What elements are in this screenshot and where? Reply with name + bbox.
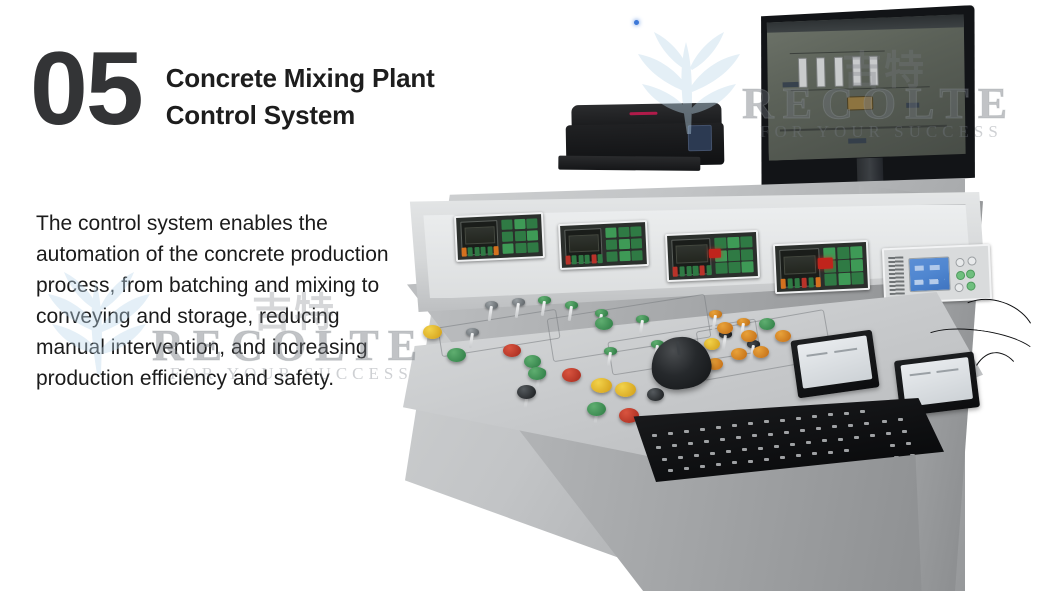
push-button-red[interactable] bbox=[503, 344, 521, 357]
controller-lcd-screen bbox=[908, 256, 951, 292]
printer-status-led bbox=[629, 112, 657, 115]
printer-output-tray bbox=[558, 156, 700, 171]
push-button-black[interactable] bbox=[517, 385, 536, 399]
hmi-silo bbox=[869, 56, 879, 86]
printer-control-panel bbox=[688, 125, 712, 151]
controller-button[interactable] bbox=[954, 283, 963, 292]
selector-switch[interactable] bbox=[512, 298, 525, 306]
hmi-tag bbox=[848, 138, 866, 144]
laser-printer bbox=[563, 103, 724, 186]
hmi-tag bbox=[906, 103, 919, 108]
controller-button[interactable] bbox=[955, 258, 964, 267]
slide-title: Concrete Mixing Plant Control System bbox=[166, 42, 435, 134]
hmi-pipe bbox=[791, 86, 930, 91]
controller-function-keys[interactable] bbox=[672, 265, 712, 276]
push-button-black[interactable] bbox=[647, 388, 664, 401]
selector-switch[interactable] bbox=[604, 347, 617, 355]
weigh-controller-3[interactable] bbox=[665, 230, 760, 282]
controller-button-green[interactable] bbox=[966, 282, 975, 291]
push-button-green[interactable] bbox=[524, 355, 541, 368]
controller-red-readout bbox=[709, 249, 721, 259]
text-column: 05 Concrete Mixing Plant Control System … bbox=[0, 0, 470, 591]
controller-red-readout bbox=[818, 257, 833, 269]
lcd-monitor bbox=[757, 5, 980, 189]
push-button-yellow[interactable] bbox=[704, 338, 720, 350]
document-holder-left bbox=[790, 330, 879, 399]
controller-button-cluster[interactable] bbox=[949, 246, 990, 300]
slide-title-line-1: Concrete Mixing Plant bbox=[166, 60, 435, 97]
slide-number: 05 bbox=[30, 42, 142, 138]
selector-switch[interactable] bbox=[565, 301, 578, 309]
weigh-controller-2[interactable] bbox=[558, 220, 649, 270]
slide-canvas: RECOLTE FOR YOUR SUCCESS 吉特 RECOLTE FOR … bbox=[0, 0, 1059, 591]
controller-function-keys[interactable] bbox=[565, 254, 603, 265]
hmi-silo bbox=[816, 58, 826, 88]
hmi-silo bbox=[798, 58, 808, 88]
push-button-green[interactable] bbox=[595, 317, 613, 330]
controller-button-green[interactable] bbox=[955, 271, 964, 280]
push-button-orange[interactable] bbox=[753, 346, 769, 358]
controller-button-green[interactable] bbox=[966, 269, 975, 278]
controller-function-keys[interactable] bbox=[780, 277, 820, 289]
push-button-orange[interactable] bbox=[717, 322, 733, 334]
selector-switch[interactable] bbox=[737, 318, 750, 326]
document-sheet bbox=[797, 335, 872, 388]
push-button-green[interactable] bbox=[528, 367, 546, 380]
push-button-orange[interactable] bbox=[775, 330, 791, 342]
lcd-value-row bbox=[915, 279, 945, 285]
selector-switch[interactable] bbox=[636, 315, 649, 323]
monitor-screen bbox=[765, 14, 968, 161]
slide-body-text: The control system enables the automatio… bbox=[36, 208, 406, 394]
controller-keypad[interactable] bbox=[603, 222, 646, 266]
controller-button[interactable] bbox=[967, 257, 976, 266]
controller-keypad[interactable] bbox=[499, 214, 542, 258]
hmi-pipe bbox=[790, 50, 886, 54]
push-button-green[interactable] bbox=[759, 318, 775, 330]
slide-title-line-2: Control System bbox=[166, 97, 435, 134]
selector-switch[interactable] bbox=[709, 310, 722, 318]
selector-switch[interactable] bbox=[538, 296, 551, 304]
push-button-yellow[interactable] bbox=[615, 382, 636, 397]
hmi-mixer bbox=[847, 96, 873, 111]
controller-terminal-strip bbox=[888, 256, 904, 295]
hmi-silo bbox=[834, 57, 844, 87]
push-button-orange[interactable] bbox=[731, 348, 747, 360]
push-button-red[interactable] bbox=[562, 368, 581, 382]
selector-switch[interactable] bbox=[595, 309, 608, 317]
headline: 05 Concrete Mixing Plant Control System bbox=[30, 42, 435, 138]
push-button-green[interactable] bbox=[587, 402, 606, 416]
product-photo bbox=[399, 0, 1059, 591]
hmi-tag bbox=[782, 82, 798, 87]
selector-switch[interactable] bbox=[485, 301, 498, 309]
keyboard-indicator-led bbox=[634, 20, 639, 25]
hmi-silo bbox=[851, 57, 861, 87]
push-button-orange[interactable] bbox=[741, 330, 757, 342]
hmi-conveyor bbox=[780, 125, 947, 132]
push-button-yellow[interactable] bbox=[591, 378, 612, 393]
weigh-controller-4[interactable] bbox=[773, 240, 870, 294]
